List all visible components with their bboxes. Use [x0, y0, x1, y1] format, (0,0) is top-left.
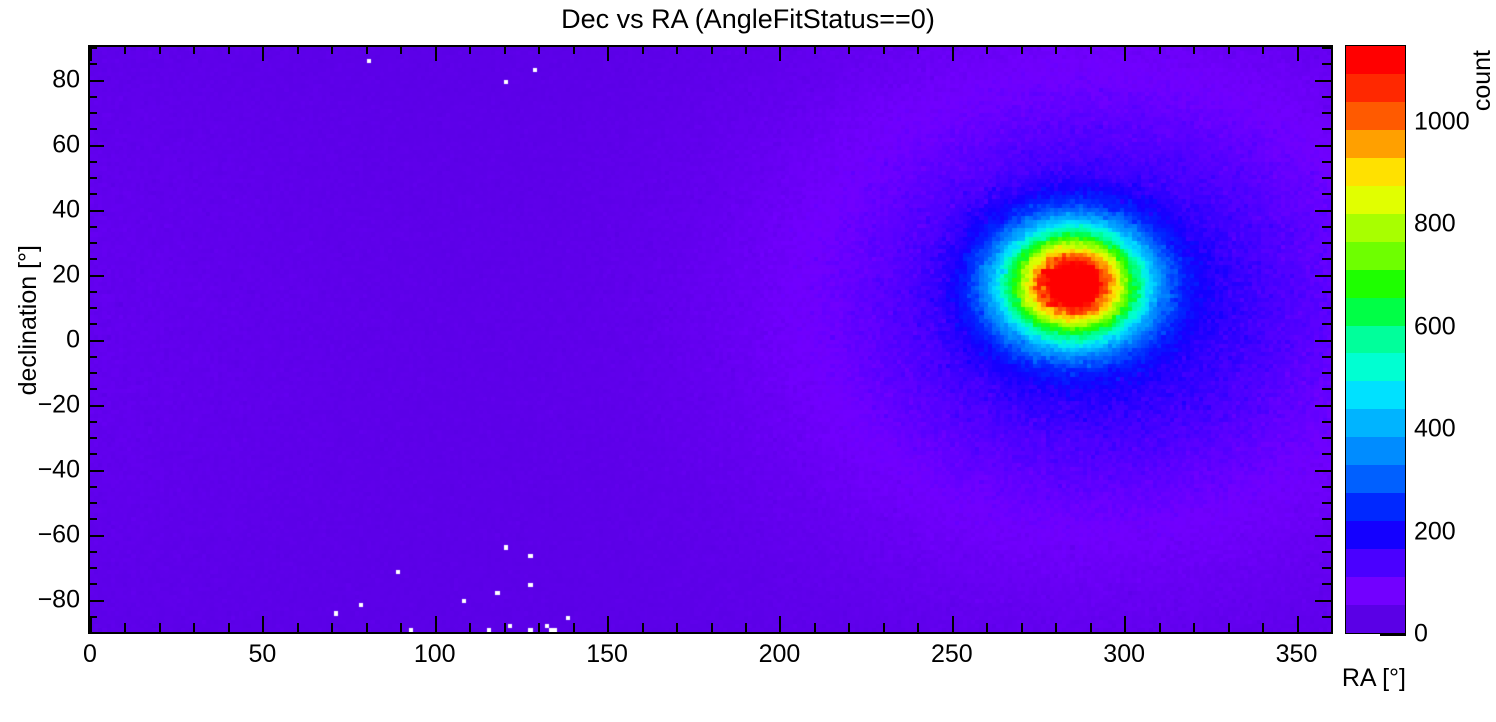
- x-axis-tick-label: 250: [931, 640, 973, 669]
- color-bar[interactable]: [1345, 45, 1406, 634]
- y-axis-tick-label: −80: [22, 585, 80, 614]
- x-axis-tick-label: 100: [414, 640, 456, 669]
- x-axis-tick-label: 200: [759, 640, 801, 669]
- x-axis-tick-label: 0: [83, 640, 97, 669]
- color-bar-band: [1346, 465, 1405, 493]
- color-bar-band: [1346, 270, 1405, 298]
- color-bar-band: [1346, 521, 1405, 549]
- color-bar-band: [1346, 186, 1405, 214]
- color-bar-band: [1346, 130, 1405, 158]
- color-bar-band: [1346, 577, 1405, 605]
- plot-frame: [88, 45, 1333, 634]
- color-bar-band: [1346, 605, 1405, 633]
- z-axis-tick-label: 800: [1414, 210, 1456, 239]
- color-bar-band: [1346, 158, 1405, 186]
- x-axis-tick-label: 300: [1103, 640, 1145, 669]
- page-title: Dec vs RA (AngleFitStatus==0): [0, 4, 1496, 35]
- x-axis-tick-label: 150: [586, 640, 628, 669]
- color-bar-band: [1346, 493, 1405, 521]
- color-bar-band: [1346, 353, 1405, 381]
- color-bar-band: [1346, 102, 1405, 130]
- color-bar-band: [1346, 242, 1405, 270]
- z-axis-tick: [1380, 634, 1406, 636]
- y-axis-tick-label: 60: [22, 130, 80, 159]
- color-bar-band: [1346, 214, 1405, 242]
- z-axis-tick-label: 600: [1414, 312, 1456, 341]
- y-axis-tick-label: 80: [22, 65, 80, 94]
- y-axis-tick-label: 40: [22, 195, 80, 224]
- z-axis-title: count: [1468, 50, 1496, 111]
- z-axis-tick-label: 1000: [1414, 107, 1470, 136]
- z-axis-tick-label: 0: [1414, 620, 1428, 649]
- color-bar-band: [1346, 298, 1405, 326]
- color-bar-band: [1346, 74, 1405, 102]
- x-axis-title: RA [°]: [1342, 664, 1406, 693]
- z-axis-tick-label: 200: [1414, 517, 1456, 546]
- y-axis-title: declination [°]: [14, 245, 43, 395]
- color-bar-band: [1346, 46, 1405, 74]
- color-bar-band: [1346, 381, 1405, 409]
- y-axis-tick-label: −60: [22, 520, 80, 549]
- y-axis-tick-label: −40: [22, 455, 80, 484]
- color-bar-band: [1346, 549, 1405, 577]
- histogram-2d-canvas[interactable]: [90, 47, 1331, 632]
- x-axis-tick-label: 50: [248, 640, 276, 669]
- root-canvas-pad: Dec vs RA (AngleFitStatus==0) 0501001502…: [0, 0, 1496, 722]
- color-bar-band: [1346, 409, 1405, 437]
- z-axis-tick-label: 400: [1414, 415, 1456, 444]
- color-bar-band: [1346, 326, 1405, 354]
- x-axis-tick-label: 350: [1276, 640, 1318, 669]
- color-bar-band: [1346, 437, 1405, 465]
